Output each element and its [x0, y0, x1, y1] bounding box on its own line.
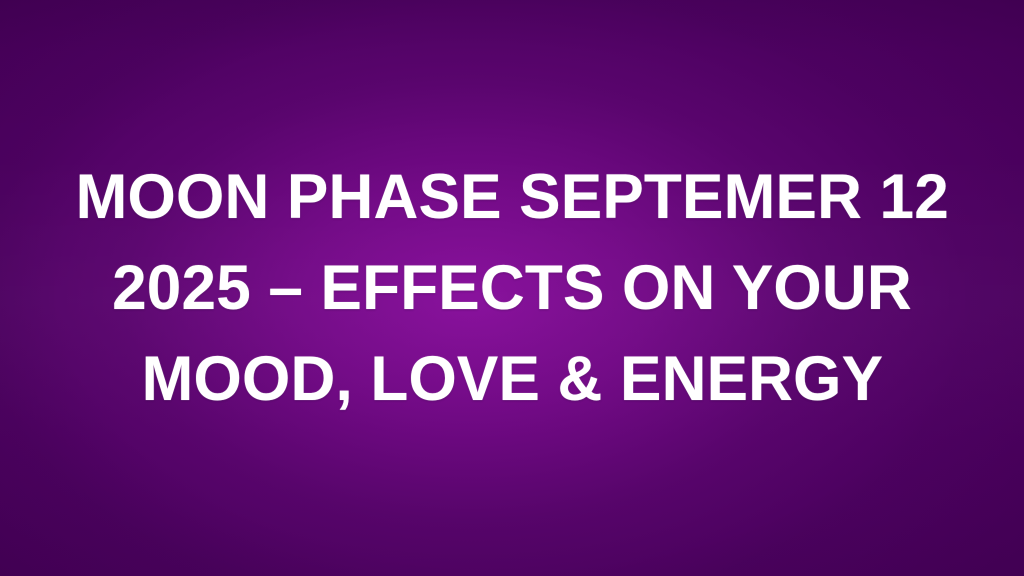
- headline-line-2: 2025 – EFFECTS ON YOUR: [112, 243, 912, 334]
- headline-block: MOON PHASE SEPTEMER 12 2025 – EFFECTS ON…: [0, 0, 1024, 576]
- headline-line-1: MOON PHASE SEPTEMER 12: [75, 152, 948, 243]
- banner-canvas: MOON PHASE SEPTEMER 12 2025 – EFFECTS ON…: [0, 0, 1024, 576]
- headline-line-3: MOOD, LOVE & ENERGY: [141, 334, 883, 425]
